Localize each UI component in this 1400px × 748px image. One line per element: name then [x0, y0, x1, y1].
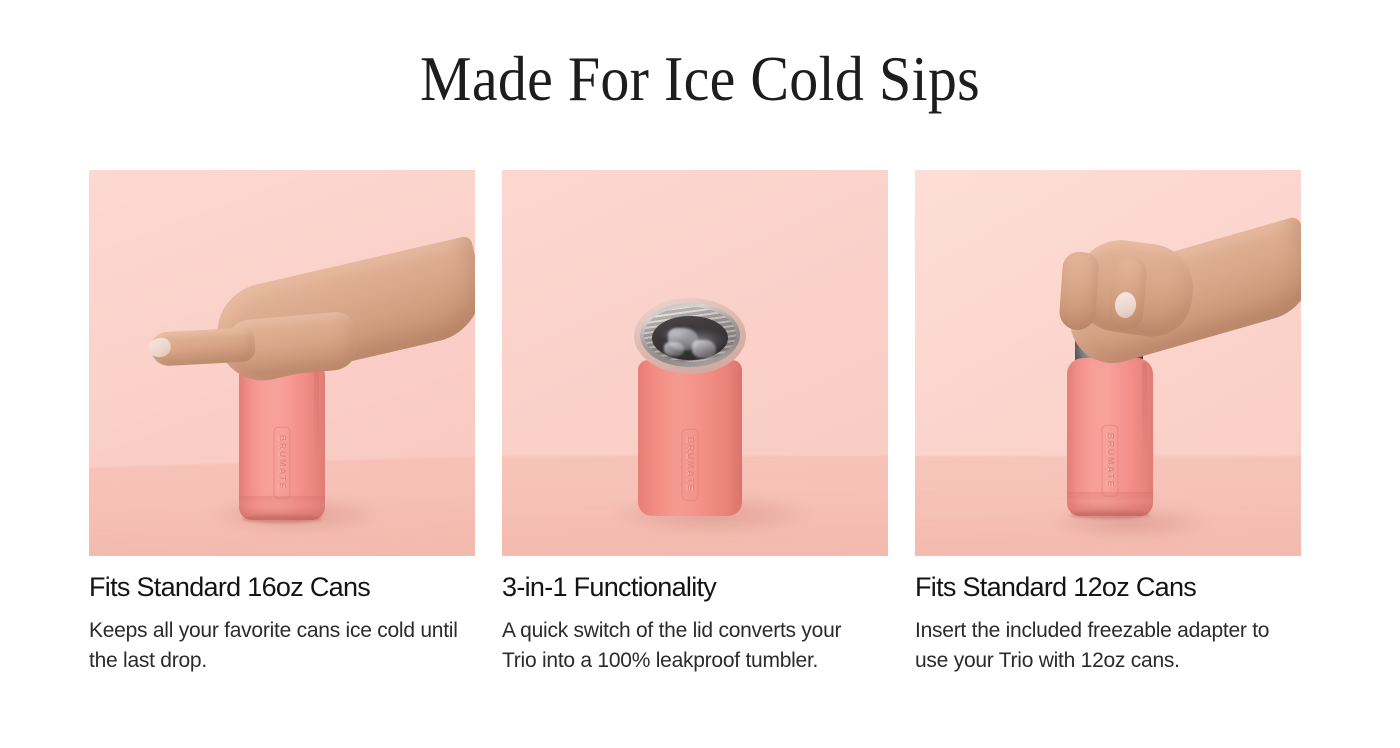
feature-body: A quick switch of the lid converts your …: [502, 616, 880, 676]
ice-cube: [692, 340, 716, 358]
brumate-logo-emboss: BRÜMATE: [1102, 425, 1119, 497]
feature-grid: BRÜMATE Fits Standard 16oz Cans Keeps al…: [89, 170, 1301, 675]
feature-image-fits-12oz: BRÜMATE: [915, 170, 1301, 556]
feature-card-3-in-1: BRÜMATE 3-in-1 Functionality A quick: [502, 170, 888, 675]
feature-heading: Fits Standard 12oz Cans: [915, 572, 1301, 604]
feature-card-fits-16oz: BRÜMATE Fits Standard 16oz Cans Keeps al…: [89, 170, 475, 675]
feature-card-fits-12oz: BRÜMATE Fits Standard 12oz Cans Insert t…: [915, 170, 1301, 675]
brumate-logo-emboss: BRÜMATE: [274, 427, 291, 499]
page-title: Made For Ice Cold Sips: [56, 46, 1344, 112]
feature-caption-fits-16oz: Fits Standard 16oz Cans Keeps all your f…: [89, 556, 475, 675]
feature-image-3-in-1: BRÜMATE: [502, 170, 888, 556]
tumbler-seam: [1142, 362, 1147, 453]
tumbler-product: BRÜMATE: [239, 360, 325, 520]
tumbler-mouth: [634, 298, 746, 374]
tumbler-product-open: BRÜMATE: [638, 360, 742, 516]
feature-caption-fits-12oz: Fits Standard 12oz Cans Insert the inclu…: [915, 556, 1301, 675]
product-feature-section: Made For Ice Cold Sips BRÜMATE: [0, 0, 1400, 748]
feature-body: Insert the included freezable adapter to…: [915, 616, 1293, 676]
iced-drink: [652, 316, 728, 360]
model-thumb: [1058, 251, 1099, 331]
feature-body: Keeps all your favorite cans ice cold un…: [89, 616, 467, 676]
feature-heading: Fits Standard 16oz Cans: [89, 572, 475, 604]
feature-caption-3-in-1: 3-in-1 Functionality A quick switch of t…: [502, 556, 888, 675]
feature-heading: 3-in-1 Functionality: [502, 572, 888, 604]
tumbler-seam: [314, 364, 319, 456]
feature-image-fits-16oz: BRÜMATE: [89, 170, 475, 556]
ice-cube: [664, 342, 684, 356]
tumbler-base-lip: [242, 515, 323, 523]
tumbler-base-lip: [1070, 511, 1151, 519]
tumbler-product: BRÜMATE: [1067, 358, 1153, 516]
brumate-logo-emboss: BRÜMATE: [682, 429, 699, 501]
